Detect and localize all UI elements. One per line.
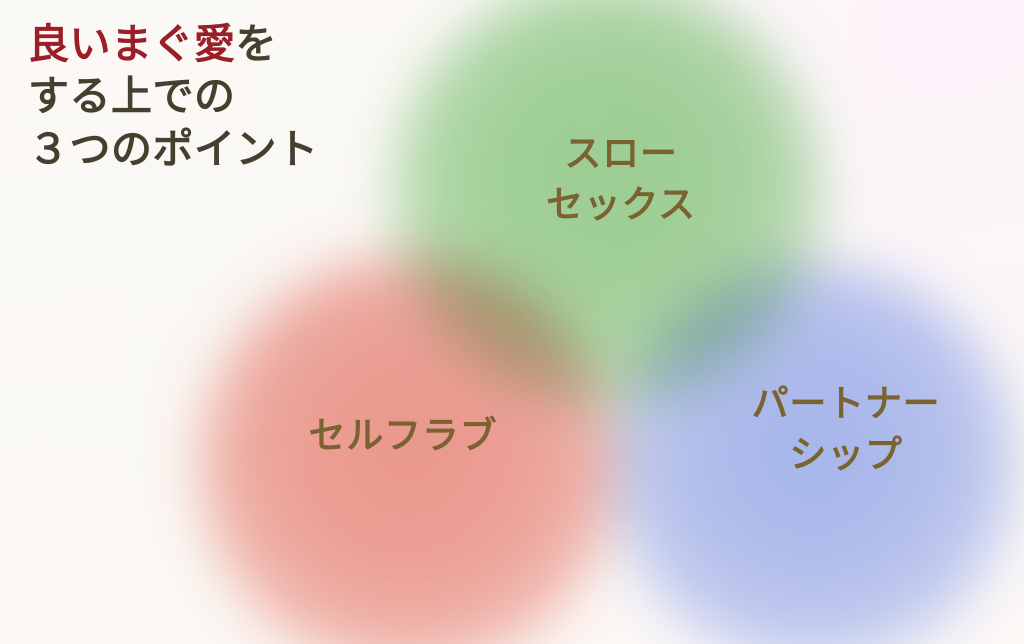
blob-label-slow-sex: スロー セックス — [516, 128, 726, 230]
blob-label-slow-sex-line-1: スロー — [516, 128, 726, 179]
blob-label-slow-sex-line-2: セックス — [516, 179, 726, 230]
page-title: 良いまぐ愛を する上での ３つのポイント — [28, 18, 318, 175]
page-title-line-2: する上での — [28, 70, 318, 122]
page-title-line-3: ３つのポイント — [28, 123, 318, 175]
blob-label-partnership-line-2: シップ — [706, 429, 986, 480]
slide-canvas: 良いまぐ愛を する上での ３つのポイント スロー セックス セルフラブ パートナ… — [0, 0, 1024, 644]
blob-label-self-love: セルフラブ — [268, 410, 538, 461]
page-title-accent-text: 良いまぐ愛 — [28, 21, 235, 67]
page-title-line-1: 良いまぐ愛を — [28, 18, 318, 70]
blob-label-partnership-line-1: パートナー — [706, 378, 986, 429]
blob-label-self-love-line-1: セルフラブ — [268, 410, 538, 461]
blob-label-partnership: パートナー シップ — [706, 378, 986, 480]
page-title-line-1-suffix: を — [235, 21, 277, 67]
